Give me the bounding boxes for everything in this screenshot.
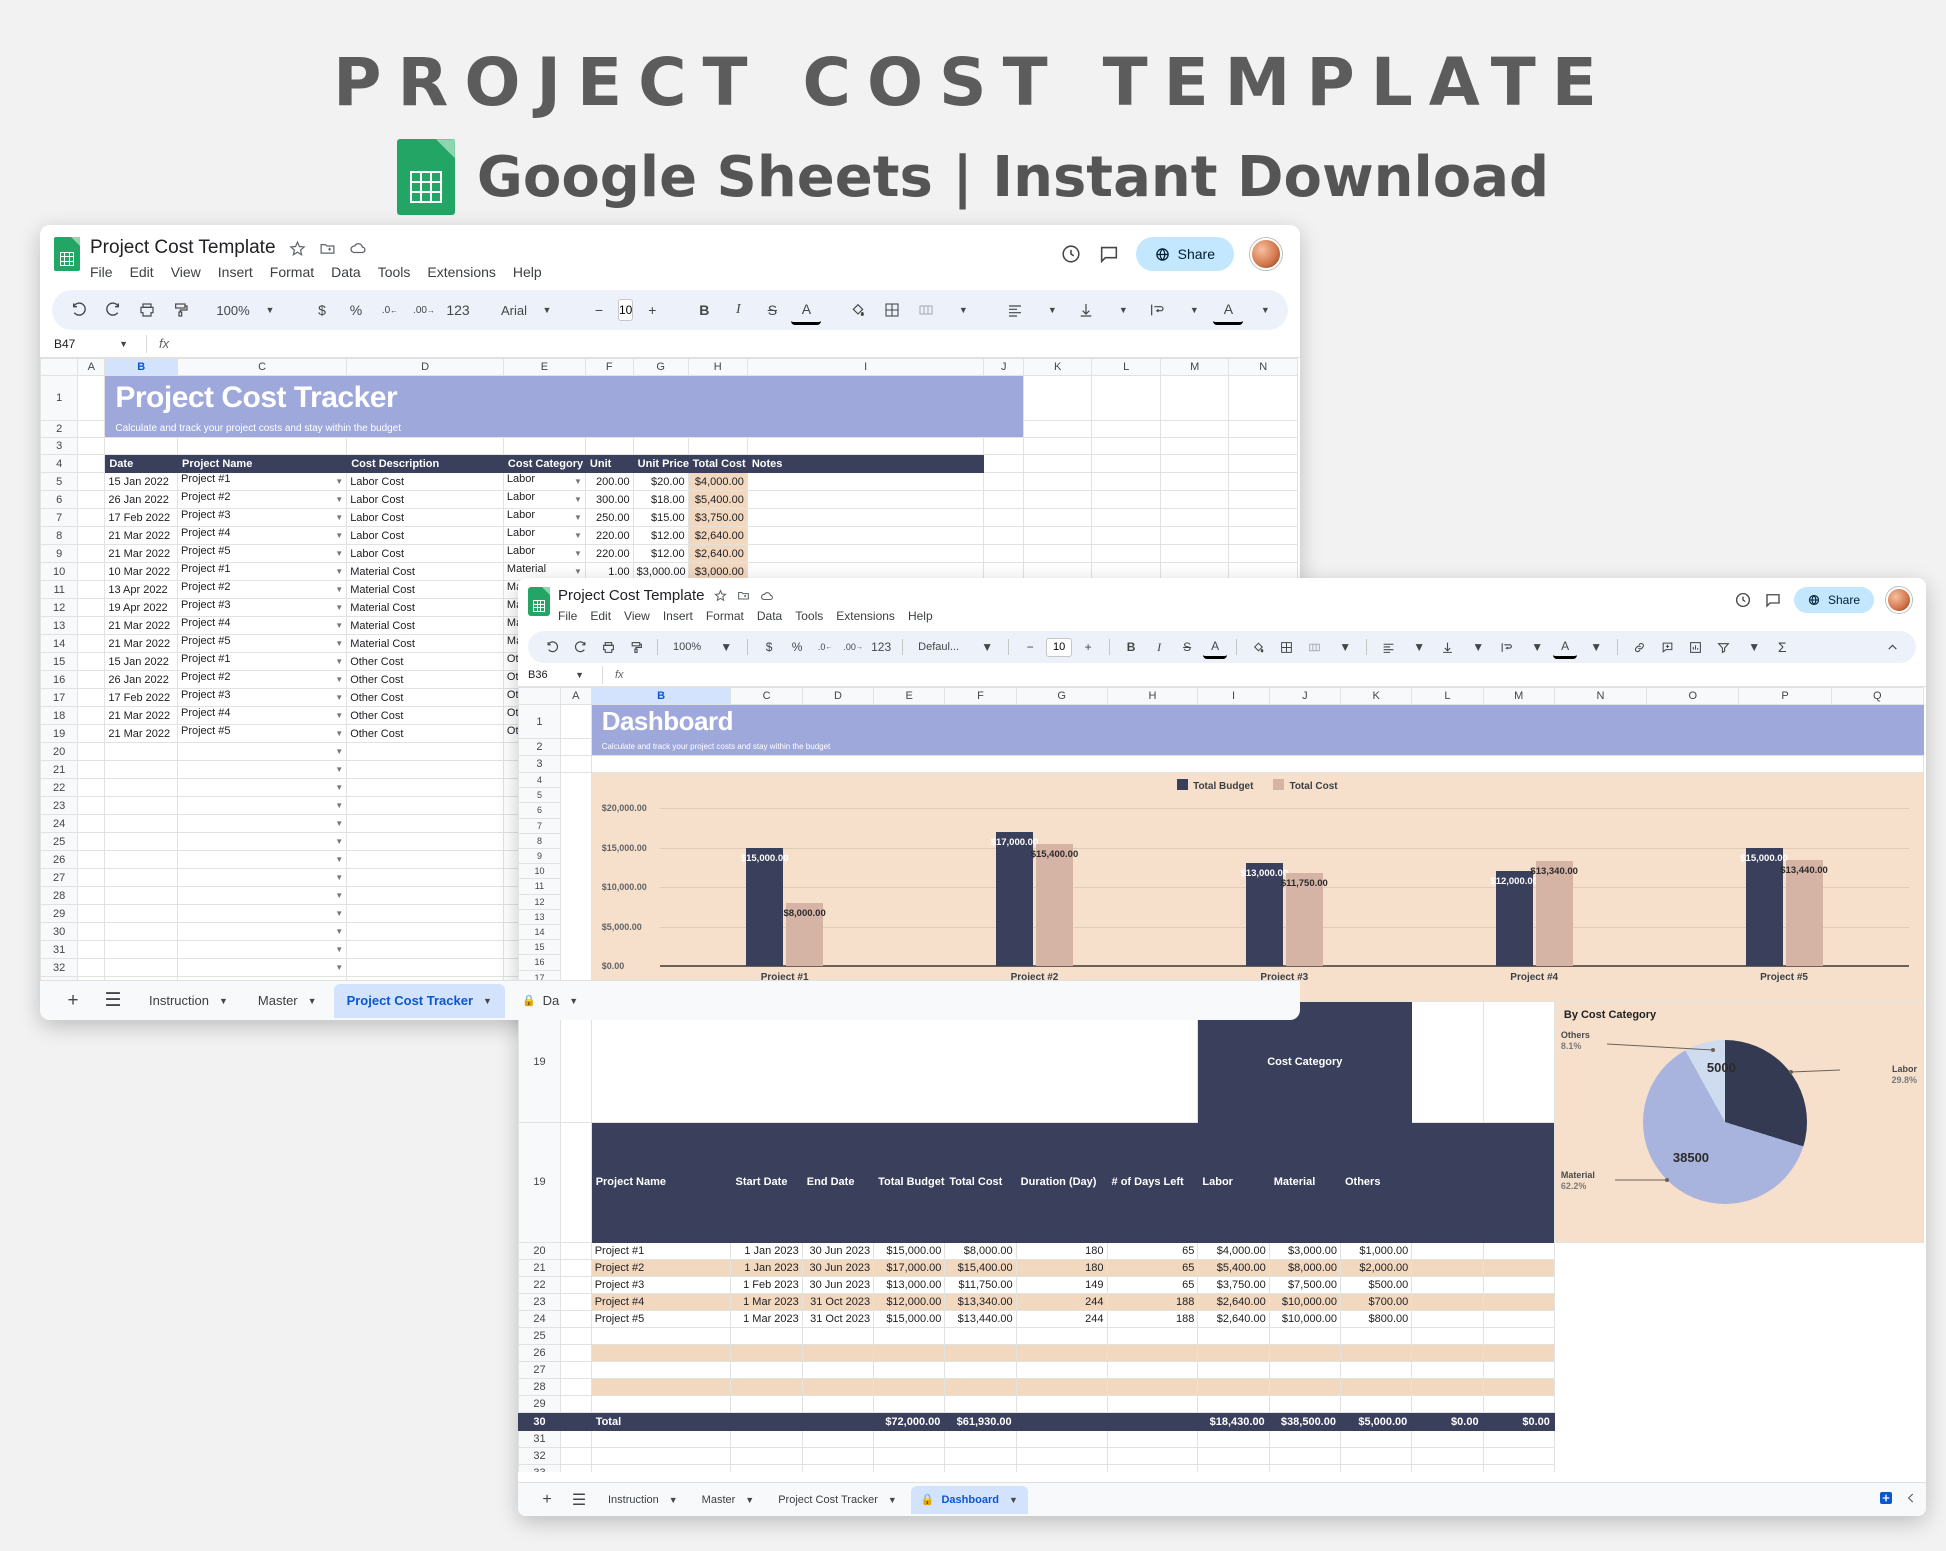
cell-labor[interactable]: $5,400.00 [1198,1260,1269,1277]
cell-total-budget[interactable]: $13,000.00 [874,1277,945,1294]
cell-project-name[interactable]: Project #4▼ [178,707,347,725]
insert-comment-icon[interactable] [1655,635,1679,659]
chevron-down-icon[interactable]: ▼ [569,996,578,1006]
dcol-header-Q[interactable]: Q [1831,688,1923,705]
cell-empty[interactable] [945,1328,1016,1345]
zoom-level[interactable]: 100% [218,295,248,325]
cell-end-date[interactable]: 31 Oct 2023 [802,1294,873,1311]
cell-days-left[interactable]: 65 [1107,1260,1198,1277]
cell-cost-category[interactable]: Labor▼ [503,509,585,527]
horizontal-align-icon[interactable] [1000,295,1030,325]
cell-cost-description[interactable] [347,779,504,797]
cell-date[interactable]: 21 Mar 2022 [105,617,178,635]
more-formats-icon[interactable]: 123 [443,295,473,325]
cell-project-name[interactable]: Project #2 [591,1260,731,1277]
redo-icon[interactable] [98,295,128,325]
cell-date[interactable] [105,797,178,815]
cell-empty[interactable] [874,1345,945,1362]
sheet-tab-master[interactable]: Master▼ [245,984,330,1018]
cell-unit-price[interactable]: $18.00 [633,491,688,509]
undo-icon[interactable] [540,635,564,659]
row-header[interactable]: 12 [519,895,560,910]
cell-material[interactable]: $8,000.00 [1269,1260,1340,1277]
comment-icon[interactable] [1764,591,1782,609]
chevron-down-icon[interactable]: ▼ [219,996,228,1006]
row-header[interactable]: 8 [519,834,560,849]
row-header[interactable]: 20 [519,1243,561,1260]
dashboard-menu-bar[interactable]: File Edit View Insert Format Data Tools … [558,609,1734,623]
col-header-A[interactable]: A [78,359,105,376]
menu-data[interactable]: Data [757,609,782,623]
cell-project-name[interactable]: Project #5▼ [178,545,347,563]
col-header-N[interactable]: N [1229,359,1298,376]
cell-project-name[interactable]: ▼ [178,779,347,797]
cell-total-cost[interactable]: $8,000.00 [945,1243,1016,1260]
sheet-tab-instruction[interactable]: Instruction▼ [136,984,241,1018]
cell-start-date[interactable]: 1 Feb 2023 [731,1277,802,1294]
cell-date[interactable]: 10 Mar 2022 [105,563,178,581]
cell-unit-price[interactable]: $12.00 [633,527,688,545]
cell-empty[interactable] [1198,1345,1269,1362]
cell-cost-description[interactable]: Labor Cost [347,491,504,509]
row-header[interactable]: 14 [41,635,78,653]
cell-end-date[interactable]: 30 Jun 2023 [802,1277,873,1294]
font-size-input[interactable]: 10 [1046,638,1072,657]
bold-icon[interactable]: B [689,295,719,325]
cell-empty[interactable] [802,1328,873,1345]
menu-data[interactable]: Data [331,264,361,280]
print-icon[interactable] [132,295,162,325]
cell-date[interactable]: 17 Feb 2022 [105,689,178,707]
col-header-M[interactable]: M [1160,359,1229,376]
tracker-sheet-tabbar[interactable]: + ☰ Instruction▼Master▼Project Cost Trac… [40,980,1300,1020]
cell-duration[interactable]: 149 [1016,1277,1107,1294]
font-family-selector[interactable]: Arial [495,295,525,325]
row-header[interactable]: 18 [41,707,78,725]
table-row[interactable]: 25 [519,1328,1924,1345]
explore-icon[interactable] [1878,1490,1894,1511]
tracker-toolbar[interactable]: 100% ▼ $ % .0← .00→ 123 Arial ▼ − 10 + B… [52,290,1288,330]
cell-notes[interactable] [747,473,984,491]
cell-empty[interactable] [591,1396,731,1413]
table-row[interactable]: 28 [519,1379,1924,1396]
cell-project-name[interactable]: Project #5 [591,1311,731,1328]
cell-date[interactable]: 26 Jan 2022 [105,671,178,689]
cell-total-cost[interactable]: $5,400.00 [688,491,747,509]
cell-labor[interactable]: $3,750.00 [1198,1277,1269,1294]
cell-empty[interactable] [591,1379,731,1396]
rotation-chevron-down-icon[interactable]: ▼ [1584,635,1608,659]
row-header[interactable]: 25 [519,1328,561,1345]
cell-project-name[interactable]: ▼ [178,869,347,887]
cell-cost-description[interactable]: Other Cost [347,653,504,671]
dashboard-grid[interactable]: A B C D E F G H I J K L M N O P Q 1 [518,687,1926,1472]
menu-file[interactable]: File [558,609,577,623]
merge-cells-icon[interactable] [911,295,941,325]
cell-labor[interactable]: $2,640.00 [1198,1294,1269,1311]
cell-material[interactable]: $10,000.00 [1269,1311,1340,1328]
menu-view[interactable]: View [171,264,201,280]
cell-project-name[interactable]: Project #4 [591,1294,731,1311]
cell-date[interactable] [105,869,178,887]
cell-empty[interactable] [1412,1328,1483,1345]
row-header[interactable]: 13 [519,910,560,925]
menu-tools[interactable]: Tools [378,264,411,280]
cell-total-cost[interactable]: $2,640.00 [688,545,747,563]
chevron-down-icon[interactable]: ▼ [483,996,492,1006]
currency-format-icon[interactable]: $ [307,295,337,325]
cell-project-name[interactable]: Project #3▼ [178,689,347,707]
cell-others[interactable]: $1,000.00 [1340,1243,1411,1260]
cell-empty[interactable] [1107,1396,1198,1413]
cell-empty[interactable] [731,1362,802,1379]
menu-insert[interactable]: Insert [663,609,693,623]
zoom-chevron-down-icon[interactable]: ▼ [714,635,738,659]
row-header[interactable]: 20 [41,743,78,761]
text-rotation-icon[interactable]: A [1213,295,1243,325]
valign-chevron-down-icon[interactable]: ▼ [1466,635,1490,659]
cell-unit[interactable]: 200.00 [585,473,633,491]
cell-empty[interactable] [591,1345,731,1362]
cell-total-budget[interactable]: $12,000.00 [874,1294,945,1311]
cell-date[interactable]: 17 Feb 2022 [105,509,178,527]
cell-cost-description[interactable] [347,869,504,887]
merge-chevron-down-icon[interactable]: ▼ [948,295,978,325]
cell-project-name[interactable]: ▼ [178,923,347,941]
font-size-input[interactable]: 10 [618,299,633,321]
fill-color-icon[interactable] [1246,635,1270,659]
row-header[interactable]: 6 [519,803,560,818]
dcol-header-F[interactable]: F [945,688,1016,705]
cell-empty[interactable] [731,1345,802,1362]
cloud-saved-icon[interactable] [349,239,367,257]
cell-date[interactable]: 19 Apr 2022 [105,599,178,617]
cell-days-left[interactable]: 188 [1107,1294,1198,1311]
cell-project-name[interactable]: Project #5▼ [178,725,347,743]
text-wrap-icon[interactable] [1142,295,1172,325]
wrap-chevron-down-icon[interactable]: ▼ [1179,295,1209,325]
cell-others[interactable]: $500.00 [1340,1277,1411,1294]
increase-decimal-icon[interactable]: .00→ [841,635,865,659]
dcol-header-N[interactable]: N [1554,688,1646,705]
column-headers[interactable]: A B C D E F G H I J K L M N [41,359,1298,376]
cell-date[interactable] [105,833,178,851]
decrease-decimal-icon[interactable]: .0← [813,635,837,659]
cell-empty[interactable] [945,1379,1016,1396]
share-button[interactable]: Share [1794,587,1874,613]
cell-empty[interactable] [1340,1328,1411,1345]
expand-sheet-icon[interactable] [1904,1491,1918,1510]
dcol-header-C[interactable]: C [731,688,802,705]
comment-icon[interactable] [1098,243,1120,265]
cell-empty[interactable] [1412,1396,1483,1413]
row-header[interactable]: 30 [41,923,78,941]
borders-icon[interactable] [877,295,907,325]
cell-total-budget[interactable]: $15,000.00 [874,1311,945,1328]
cell-end-date[interactable]: 30 Jun 2023 [802,1260,873,1277]
row-header[interactable]: 16 [519,955,560,970]
cell-empty[interactable] [1340,1362,1411,1379]
col-header-E[interactable]: E [503,359,585,376]
increase-font-size-button[interactable]: + [637,295,667,325]
cell-empty[interactable] [591,1362,731,1379]
cell-empty[interactable] [1107,1345,1198,1362]
cell-cost-description[interactable] [347,743,504,761]
cell-project-name[interactable]: ▼ [178,833,347,851]
cell-cost-description[interactable]: Material Cost [347,635,504,653]
cell-empty[interactable] [802,1362,873,1379]
cell-project-name[interactable]: ▼ [178,815,347,833]
cell-days-left[interactable]: 65 [1107,1243,1198,1260]
cell-cost-description[interactable] [347,797,504,815]
dcol-header-D[interactable]: D [802,688,873,705]
cell-empty[interactable] [731,1328,802,1345]
cell-start-date[interactable]: 1 Jan 2023 [731,1243,802,1260]
cell-cost-description[interactable]: Material Cost [347,599,504,617]
cell-start-date[interactable]: 1 Mar 2023 [731,1294,802,1311]
sheet-tab-da[interactable]: 🔒Da▼ [509,984,591,1018]
cell-cost-category[interactable]: Labor▼ [503,545,585,563]
table-row[interactable]: 29 [519,1396,1924,1413]
cell-unit[interactable]: 250.00 [585,509,633,527]
insert-link-icon[interactable] [1627,635,1651,659]
tracker-menu-bar[interactable]: File Edit View Insert Format Data Tools … [90,264,1060,280]
cell-notes[interactable] [747,491,984,509]
row-header[interactable]: 26 [519,1345,561,1362]
merge-cells-icon[interactable] [1302,635,1326,659]
dashboard-formula-bar[interactable]: B36 ▼ fx [518,663,1926,687]
percent-format-icon[interactable]: % [785,635,809,659]
cell-material[interactable]: $7,500.00 [1269,1277,1340,1294]
cell-empty[interactable] [591,1328,731,1345]
cell-total-cost[interactable]: $13,440.00 [945,1311,1016,1328]
row-header[interactable]: 27 [519,1362,561,1379]
row-header[interactable]: 31 [41,941,78,959]
undo-icon[interactable] [64,295,94,325]
functions-icon[interactable]: Σ [1770,635,1794,659]
paint-format-icon[interactable] [166,295,196,325]
sheet-tab-dashboard[interactable]: 🔒Dashboard▼ [911,1486,1028,1514]
row-header[interactable]: 9 [519,849,560,864]
dcol-header-P[interactable]: P [1739,688,1831,705]
col-header-K[interactable]: K [1023,359,1092,376]
menu-extensions[interactable]: Extensions [836,609,895,623]
cost-category-pie-chart[interactable]: By Cost Category Others8.1% Labor29.8% M… [1555,1002,1923,1242]
cell-cost-description[interactable] [347,815,504,833]
cell-project-name[interactable]: Project #1 [591,1243,731,1260]
cell-date[interactable]: 15 Jan 2022 [105,653,178,671]
dcol-header-G[interactable]: G [1016,688,1107,705]
menu-insert[interactable]: Insert [218,264,253,280]
row-header[interactable]: 7 [41,509,78,527]
filter-chevron-down-icon[interactable]: ▼ [1742,635,1766,659]
row-header[interactable]: 4 [519,773,560,788]
cell-date[interactable]: 21 Mar 2022 [105,527,178,545]
col-header-H[interactable]: H [688,359,747,376]
italic-icon[interactable]: I [1147,635,1171,659]
chevron-down-icon[interactable]: ▼ [1009,1495,1018,1505]
sheet-tab-instruction[interactable]: Instruction▼ [598,1486,688,1514]
cell-empty[interactable] [802,1379,873,1396]
cell-date[interactable]: 21 Mar 2022 [105,635,178,653]
namebox-chevron-down-icon[interactable]: ▼ [119,339,128,349]
row-header[interactable]: 27 [41,869,78,887]
cell-end-date[interactable]: 30 Jun 2023 [802,1243,873,1260]
row-header[interactable]: 32 [519,1448,561,1465]
cell-empty[interactable] [1198,1379,1269,1396]
cell-empty[interactable] [1269,1328,1340,1345]
row-header[interactable]: 11 [41,581,78,599]
paint-format-icon[interactable] [624,635,648,659]
cell-material[interactable]: $10,000.00 [1269,1294,1340,1311]
sheet-tab-project-cost-tracker[interactable]: Project Cost Tracker▼ [768,1486,907,1514]
vertical-align-icon[interactable] [1071,295,1101,325]
dcol-header-K[interactable]: K [1340,688,1411,705]
menu-format[interactable]: Format [270,264,314,280]
cell-duration[interactable]: 244 [1016,1311,1107,1328]
cell-empty[interactable] [945,1345,1016,1362]
version-history-icon[interactable] [1734,591,1752,609]
cell-date[interactable]: 15 Jan 2022 [105,473,178,491]
chevron-down-icon[interactable]: ▼ [308,996,317,1006]
cell-date[interactable] [105,923,178,941]
menu-format[interactable]: Format [706,609,744,623]
row-header[interactable]: 32 [41,959,78,977]
cell-days-left[interactable]: 65 [1107,1277,1198,1294]
cell-date[interactable]: 21 Mar 2022 [105,545,178,563]
share-button[interactable]: Share [1136,237,1234,271]
col-header-B[interactable]: B [105,359,178,376]
cell-total-budget[interactable]: $15,000.00 [874,1243,945,1260]
cell-empty[interactable] [1107,1379,1198,1396]
table-row[interactable]: 31 [519,1431,1924,1448]
font-family-selector[interactable]: Defaul... [912,635,968,659]
cell-total-cost[interactable]: $3,750.00 [688,509,747,527]
name-box[interactable]: B47 ▼ [54,337,134,351]
cell-empty[interactable] [874,1328,945,1345]
row-header[interactable]: 15 [41,653,78,671]
cell-project-name[interactable]: ▼ [178,851,347,869]
increase-font-size-button[interactable]: + [1076,635,1100,659]
menu-extensions[interactable]: Extensions [427,264,495,280]
tracker-formula-bar[interactable]: B47 ▼ fx [40,330,1300,358]
chevron-down-icon[interactable]: ▼ [745,1495,754,1505]
text-wrap-icon[interactable] [1494,635,1518,659]
add-sheet-icon[interactable]: + [534,1487,560,1513]
row-header[interactable]: 29 [519,1396,561,1413]
filter-icon[interactable] [1711,635,1735,659]
dashboard-summary-body[interactable]: 20Project #11 Jan 202330 Jun 2023$15,000… [519,1243,1924,1473]
cell-empty[interactable] [802,1345,873,1362]
cell-project-name[interactable]: ▼ [178,941,347,959]
cell-project-name[interactable]: Project #1▼ [178,473,347,491]
cell-project-name[interactable]: ▼ [178,887,347,905]
cell-empty[interactable] [1016,1362,1107,1379]
cell-empty[interactable] [874,1379,945,1396]
row-header[interactable]: 9 [41,545,78,563]
cell-date[interactable] [105,815,178,833]
cell-project-name[interactable]: Project #2▼ [178,581,347,599]
font-chevron-down-icon[interactable]: ▼ [975,635,999,659]
cell-empty[interactable] [1340,1379,1411,1396]
row-header[interactable]: 11 [519,879,560,894]
cell-empty[interactable] [945,1362,1016,1379]
sheets-app-icon[interactable] [54,237,80,271]
cell-empty[interactable] [1340,1396,1411,1413]
dcol-header-M[interactable]: M [1483,688,1554,705]
dashboard-column-headers[interactable]: A B C D E F G H I J K L M N O P Q [519,688,1924,705]
cell-duration[interactable]: 180 [1016,1243,1107,1260]
cell-date[interactable]: 21 Mar 2022 [105,707,178,725]
cell-material[interactable]: $3,000.00 [1269,1243,1340,1260]
cell-start-date[interactable]: 1 Mar 2023 [731,1311,802,1328]
row-header[interactable]: 14 [519,925,560,940]
decrease-font-size-button[interactable]: − [1018,635,1042,659]
cell-empty[interactable] [1483,1345,1554,1362]
halign-chevron-down-icon[interactable]: ▼ [1037,295,1067,325]
row-header[interactable]: 10 [41,563,78,581]
cell-project-name[interactable]: Project #3▼ [178,599,347,617]
menu-edit[interactable]: Edit [130,264,154,280]
table-row[interactable]: 515 Jan 2022Project #1▼Labor CostLabor▼2… [41,473,1298,491]
version-history-icon[interactable] [1060,243,1082,265]
print-icon[interactable] [596,635,620,659]
cell-project-name[interactable]: Project #3 [591,1277,731,1294]
cell-project-name[interactable]: Project #1▼ [178,653,347,671]
col-header-L[interactable]: L [1092,359,1161,376]
row-header[interactable]: 5 [41,473,78,491]
cell-notes[interactable] [747,509,984,527]
cell-date[interactable] [105,779,178,797]
cell-cost-description[interactable] [347,851,504,869]
cell-empty[interactable] [1269,1362,1340,1379]
row-header[interactable]: 10 [519,864,560,879]
strikethrough-icon[interactable]: S [1175,635,1199,659]
row-header[interactable]: 15 [519,940,560,955]
cell-cost-description[interactable] [347,923,504,941]
cell-cost-description[interactable] [347,761,504,779]
cell-cost-description[interactable]: Other Cost [347,689,504,707]
dcol-header-B[interactable]: B [591,688,731,705]
cell-duration[interactable]: 244 [1016,1294,1107,1311]
dcol-header-A[interactable]: A [560,688,591,705]
row-header[interactable]: 12 [41,599,78,617]
cell-cost-description[interactable] [347,887,504,905]
zoom-chevron-down-icon[interactable]: ▼ [255,295,285,325]
cell-empty[interactable] [1107,1362,1198,1379]
table-row[interactable]: 626 Jan 2022Project #2▼Labor CostLabor▼3… [41,491,1298,509]
cell-empty[interactable] [1269,1345,1340,1362]
cell-days-left[interactable]: 188 [1107,1311,1198,1328]
chevron-down-icon[interactable]: ▼ [888,1495,897,1505]
cell-empty[interactable] [874,1362,945,1379]
text-color-icon[interactable]: A [791,295,821,325]
cell-cost-description[interactable] [347,941,504,959]
cell-date[interactable] [105,887,178,905]
row-header[interactable]: 30 [519,1413,561,1431]
merge-chevron-down-icon[interactable]: ▼ [1333,635,1357,659]
name-box[interactable]: B36 ▼ [528,669,590,681]
cell-project-name[interactable]: Project #3▼ [178,509,347,527]
cell-empty[interactable] [1016,1328,1107,1345]
star-icon[interactable] [714,589,727,602]
menu-help[interactable]: Help [513,264,542,280]
text-rotation-icon[interactable]: A [1553,635,1577,659]
more-formats-icon[interactable]: 123 [869,635,893,659]
cell-date[interactable] [105,905,178,923]
cloud-saved-icon[interactable] [760,589,774,603]
row-header[interactable]: 29 [41,905,78,923]
